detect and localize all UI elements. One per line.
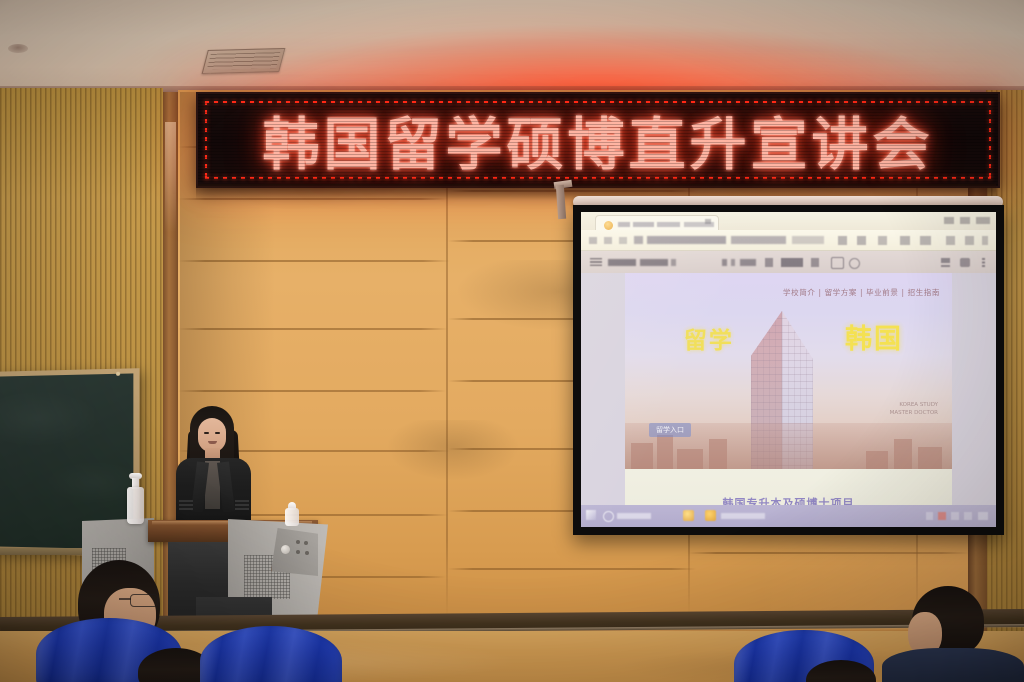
browser-tab-bar[interactable]	[581, 212, 996, 230]
taskbar-system-tray[interactable]	[926, 512, 988, 520]
podium-control-panel[interactable]	[271, 528, 318, 576]
pdf-page-indicator[interactable]	[722, 259, 756, 266]
glasses-arm	[119, 598, 131, 600]
fit-page-icon[interactable]	[831, 257, 844, 269]
audience-shoulders-3	[882, 648, 1024, 682]
taskbar-app-label[interactable]	[721, 513, 765, 519]
slide-subtitle: 韩国专升本及硕博士项目	[625, 495, 952, 505]
rotate-icon[interactable]	[849, 258, 860, 269]
slide-nav-separator-2: |	[860, 288, 863, 297]
slide-word-right: 韩国	[845, 317, 903, 356]
slide-nav-item-0: 学校简介	[783, 288, 815, 297]
led-banner: 韩国留学硕博直升宣讲会	[196, 92, 1000, 188]
browser-toolbar-icons[interactable]	[838, 236, 988, 245]
slide-tagline: KOREA STUDY MASTER DOCTOR	[890, 401, 938, 418]
taskbar-search-text[interactable]	[617, 513, 651, 519]
hand-sanitizer-bottle-2	[285, 508, 299, 526]
slide-nav-item-3: 招生指南	[908, 288, 940, 297]
air-vent-icon	[202, 48, 286, 74]
ceiling-red-glow	[180, 0, 1024, 96]
slide-nav-separator-3: |	[901, 288, 904, 297]
wall-trim-left-highlight	[165, 122, 176, 232]
slide-nav-item-2: 毕业前景	[866, 288, 898, 297]
speaker-cuff-right	[235, 500, 249, 510]
slide-hero-image: 学校简介 | 留学方案 | 毕业前景 | 招生指南 留学 韩国 留学入口 KOR…	[625, 273, 952, 469]
projection-surface: 学校简介 | 留学方案 | 毕业前景 | 招生指南 留学 韩国 留学入口 KOR…	[581, 212, 996, 527]
led-banner-text: 韩国留学硕博直升宣讲会	[198, 99, 998, 181]
windows-start-icon[interactable]	[586, 510, 596, 520]
window-controls[interactable]	[944, 217, 990, 224]
browser-tab-title	[618, 222, 714, 227]
search-icon[interactable]	[603, 511, 614, 522]
ceiling-spot-light	[8, 44, 28, 53]
air-vent-louvers	[207, 52, 281, 70]
tab-favicon-icon	[604, 221, 613, 230]
download-icon[interactable]	[941, 258, 950, 267]
address-bar-url[interactable]	[634, 236, 824, 244]
slide-badge: 留学入口	[649, 423, 691, 437]
slide-tagline-line1: KOREA STUDY	[890, 401, 938, 409]
slide-nav-item-1: 留学方案	[825, 288, 857, 297]
pdf-viewer-toolbar[interactable]	[581, 251, 996, 274]
slide-word-left: 留学	[684, 321, 734, 355]
pdf-zoom-controls[interactable]	[765, 258, 833, 267]
print-icon[interactable]	[960, 258, 970, 267]
speaker-face	[198, 418, 226, 452]
hamburger-icon[interactable]	[590, 258, 602, 266]
tab-close-icon[interactable]	[705, 219, 711, 224]
glasses-icon	[130, 594, 158, 607]
more-options-icon[interactable]	[982, 258, 985, 267]
hand-sanitizer-bottle	[127, 487, 144, 524]
browser-nav-icons[interactable]	[589, 237, 627, 244]
browser-tab[interactable]	[595, 215, 719, 231]
projection-screen: 学校简介 | 留学方案 | 毕业前景 | 招生指南 留学 韩国 留学入口 KOR…	[573, 205, 1004, 535]
windows-taskbar[interactable]	[581, 505, 996, 527]
slide-nav-separator: |	[818, 288, 821, 297]
pdf-slide-page: 学校简介 | 留学方案 | 毕业前景 | 招生指南 留学 韩国 留学入口 KOR…	[625, 273, 952, 505]
slide-nav-bar: 学校简介 | 留学方案 | 毕业前景 | 招生指南	[783, 287, 940, 298]
lecture-hall-photo: 韩国留学硕博直升宣讲会	[0, 0, 1024, 682]
slide-tagline-line2: MASTER DOCTOR	[890, 409, 938, 417]
taskbar-app-icon-2[interactable]	[705, 510, 716, 521]
taskbar-app-icon-1[interactable]	[683, 510, 694, 521]
pdf-filename	[608, 259, 676, 266]
speaker-cuff-left	[179, 500, 193, 510]
browser-address-bar[interactable]	[581, 230, 996, 251]
